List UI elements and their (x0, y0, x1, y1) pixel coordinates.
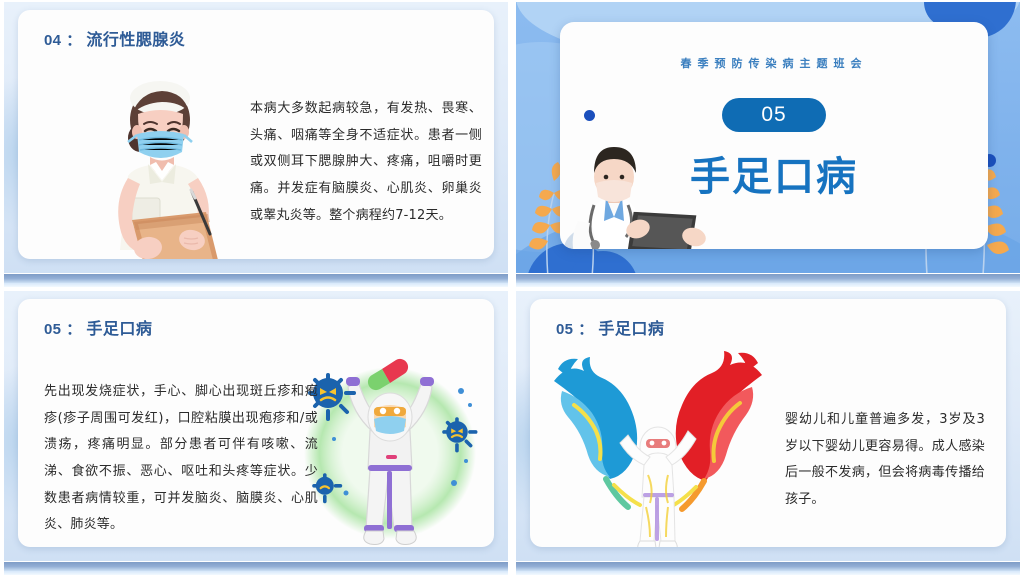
slide-canvas: 春季预防传染病主题班会 05 手足口病 (516, 2, 1020, 273)
slide-base-strip (4, 562, 508, 575)
slide-number: 05 (556, 321, 573, 338)
red-flame-figure (670, 351, 762, 509)
slide-05-population[interactable]: 05 ： 手足口病 (512, 289, 1024, 577)
slide-05-title[interactable]: 春季预防传染病主题班会 05 手足口病 (512, 0, 1024, 289)
content-card: 04 ： 流行性腮腺炎 (18, 10, 494, 259)
heading-separator: ： (63, 29, 84, 50)
slide-number: 05 (44, 321, 61, 338)
doctor-with-tablet-illustration (564, 133, 724, 249)
slide-heading: 05 ： 手足口病 (44, 315, 152, 339)
page-title: 手足口病 (598, 315, 664, 339)
slide-canvas: 04 ： 流行性腮腺炎 (4, 2, 508, 273)
slide-heading: 05 ： 手足口病 (556, 315, 664, 339)
title-card: 春季预防传染病主题班会 05 手足口病 (560, 22, 988, 249)
content-card: 05 ： 手足口病 (18, 299, 494, 547)
section-number-badge: 05 (722, 98, 826, 132)
body-text: 婴幼儿和儿童普遍多发，3岁及3岁以下婴幼儿更容易得。成人感染后一般不发病，但会将… (785, 407, 985, 514)
slide-canvas: 05 ： 手足口病 (4, 291, 508, 561)
slide-number: 04 (44, 32, 61, 49)
hazmat-worker-between-blue-and-red-flame-figures-illustration (544, 347, 772, 547)
blue-dot (584, 110, 595, 121)
heading-separator: ： (575, 318, 596, 339)
heading-separator: ： (63, 318, 84, 339)
body-text: 本病大多数起病较急，有发热、畏寒、头痛、咽痛等全身不适症状。患者一侧或双侧耳下腮… (250, 96, 482, 229)
slide-05-symptoms[interactable]: 05 ： 手足口病 (0, 289, 512, 577)
hazmat-worker (620, 427, 696, 547)
slide-grid: 04 ： 流行性腮腺炎 (0, 0, 1024, 577)
nurse-with-clipboard-illustration (88, 72, 238, 259)
body-text: 先出现发烧症状，手心、脚心出现斑丘疹和疱疹(疹子周围可发红)，口腔粘膜出现疱疹和… (44, 379, 318, 539)
slide-base-strip (516, 274, 1020, 287)
slide-04-mumps[interactable]: 04 ： 流行性腮腺炎 (0, 0, 512, 289)
page-title: 手足口病 (86, 315, 152, 339)
slide-canvas: 05 ： 手足口病 (516, 291, 1020, 561)
slide-base-strip (4, 274, 508, 287)
content-card: 05 ： 手足口病 (530, 299, 1006, 547)
slide-heading: 04 ： 流行性腮腺炎 (44, 26, 185, 50)
slide-base-strip (516, 562, 1020, 575)
kicker-text: 春季预防传染病主题班会 (560, 55, 988, 71)
page-title: 流行性腮腺炎 (86, 26, 185, 50)
blue-flame-figure (554, 357, 640, 507)
